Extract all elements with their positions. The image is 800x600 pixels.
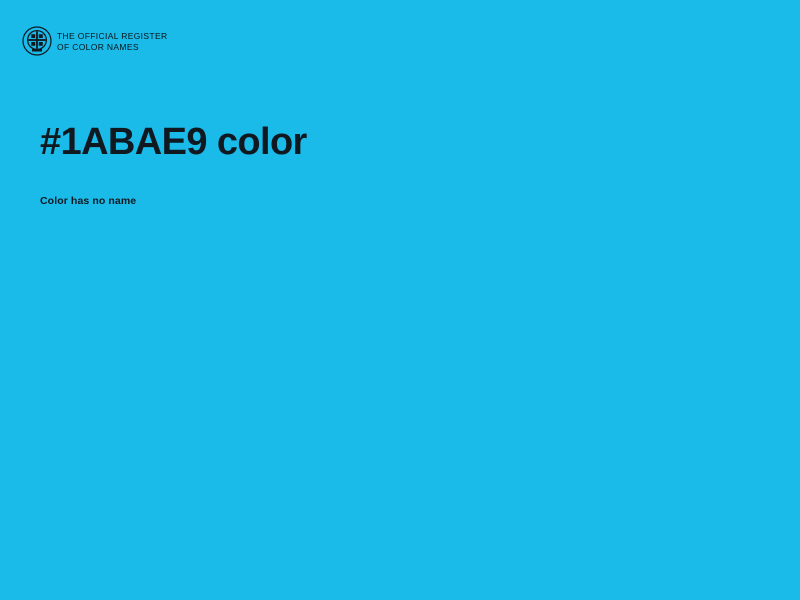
official-register-seal-icon (22, 26, 52, 56)
color-title-suffix: color (217, 121, 307, 163)
official-register-seal-icon (22, 26, 52, 56)
color-swatch-background (0, 0, 800, 600)
brand-wordmark: THE OFFICIAL REGISTER OF COLOR NAMES (57, 30, 167, 52)
main-content: #1ABAE9 color Color has no name (40, 120, 760, 208)
color-hex-value: #1ABAE9 (40, 121, 207, 163)
brand-wordmark-line-2: OF COLOR NAMES (57, 42, 167, 53)
page-title: #1ABAE9 color (40, 120, 760, 164)
brand-wordmark-line-1: THE OFFICIAL REGISTER (57, 31, 167, 42)
brand-lockup[interactable]: THE OFFICIAL REGISTER OF COLOR NAMES (22, 26, 167, 56)
color-page: THE OFFICIAL REGISTER OF COLOR NAMES #1A… (0, 0, 800, 600)
color-name-status: Color has no name (40, 164, 760, 208)
title-space (207, 121, 217, 163)
